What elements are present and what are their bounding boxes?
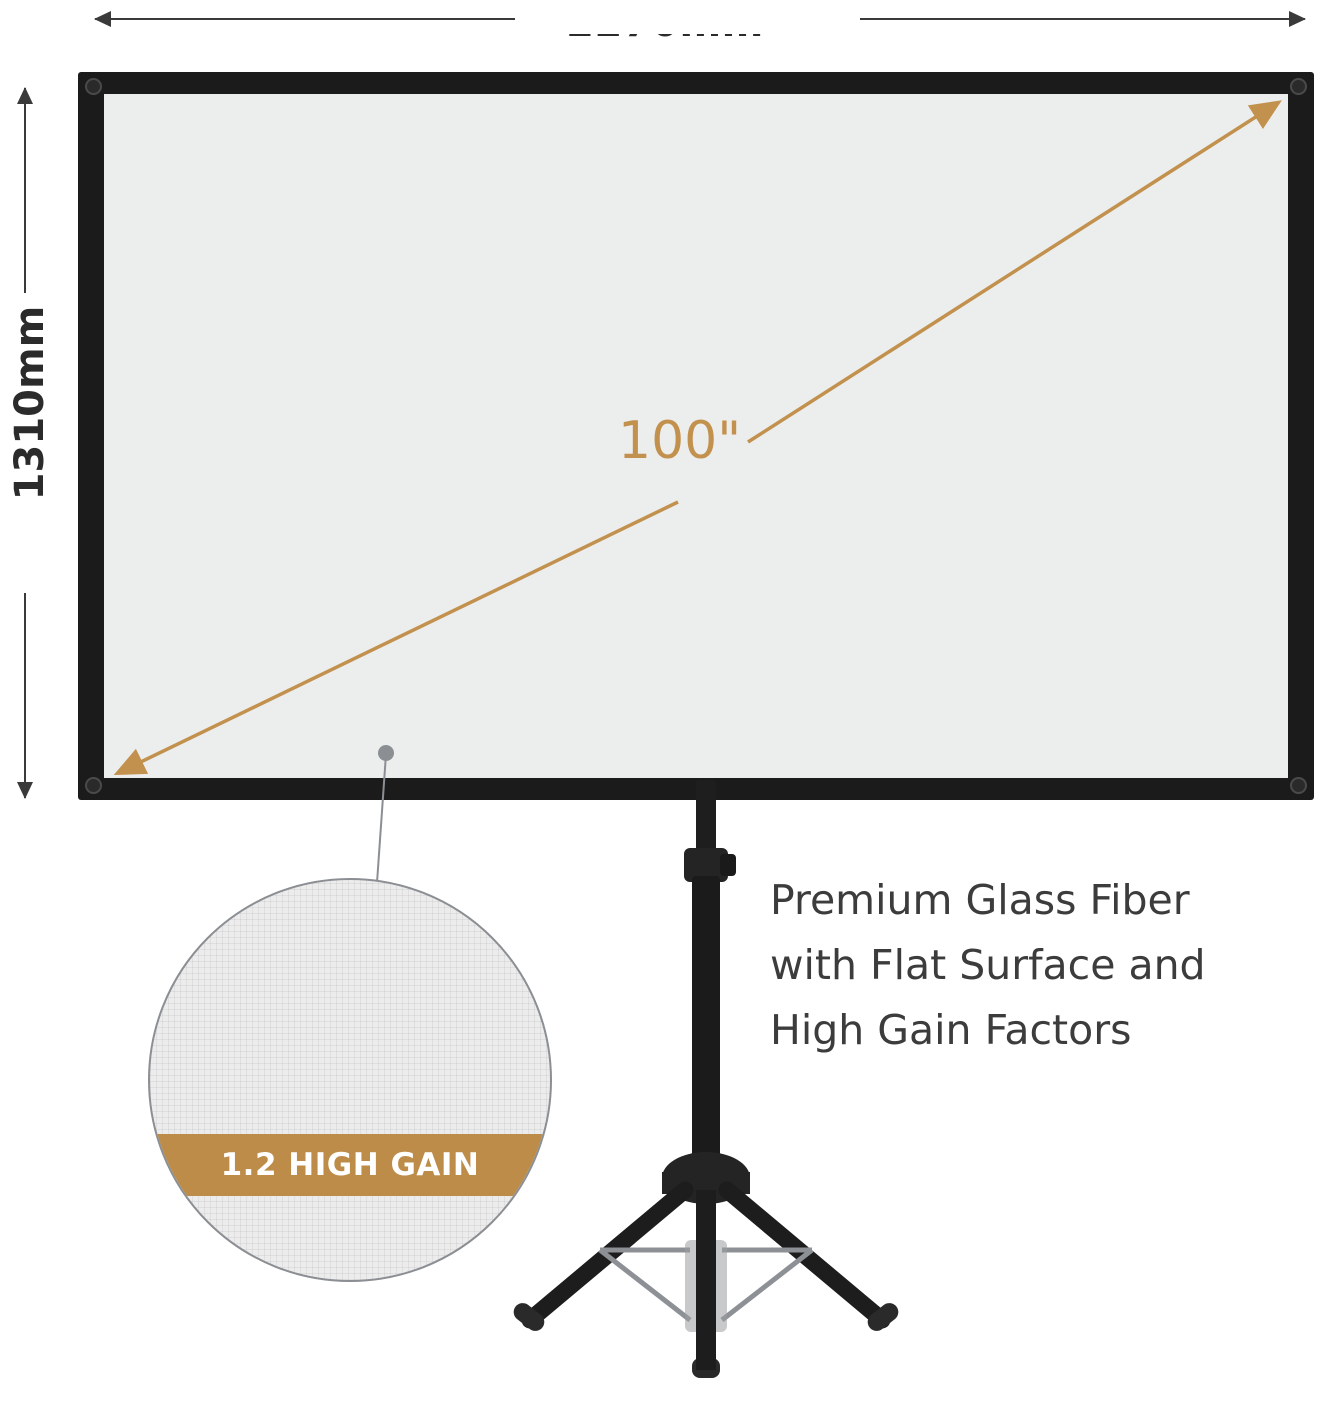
feature-line-1: Premium Glass Fiber <box>770 868 1330 933</box>
arrow-left-icon <box>94 11 111 27</box>
diagonal-size-label: 100" <box>618 411 741 471</box>
arrow-down-icon <box>17 782 33 799</box>
dimension-line-gap <box>515 4 860 34</box>
arrow-up-icon <box>17 87 33 104</box>
feature-description: Premium Glass Fiber with Flat Surface an… <box>770 868 1330 1062</box>
arrow-right-icon <box>1289 11 1306 27</box>
fabric-callout: 1.2 HIGH GAIN <box>148 740 608 1280</box>
feature-line-3: High Gain Factors <box>770 998 1330 1063</box>
gain-label: 1.2 HIGH GAIN <box>221 1147 480 1183</box>
product-diagram: 2270mm 1310mm 100" <box>0 0 1330 1413</box>
feature-line-2: with Flat Surface and <box>770 933 1330 998</box>
callout-leader-line <box>376 754 387 882</box>
height-dimension-label: 1310mm <box>7 273 53 533</box>
width-dimension-line <box>95 18 1305 20</box>
gain-band: 1.2 HIGH GAIN <box>150 1134 550 1196</box>
fabric-closeup-circle: 1.2 HIGH GAIN <box>148 878 552 1282</box>
